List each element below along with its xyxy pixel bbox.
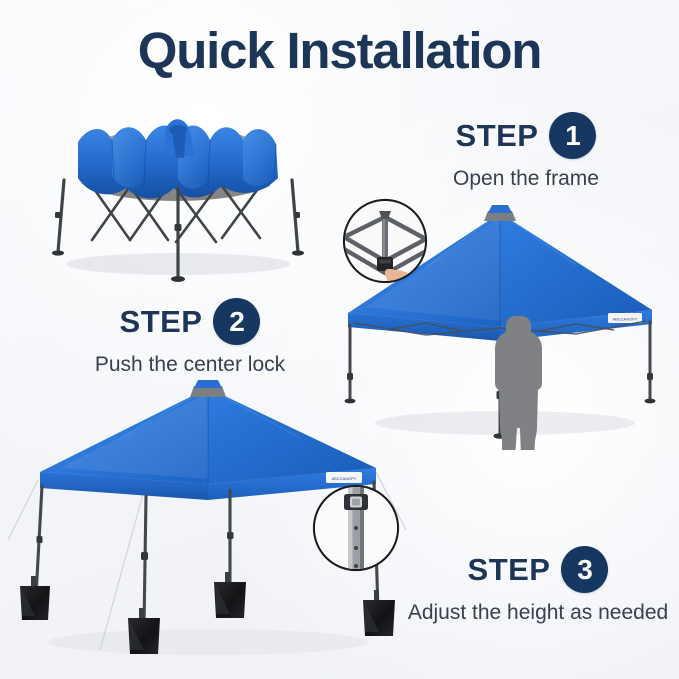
step-1: STEP 1 Open the frame — [396, 112, 656, 192]
step-3-badge: 3 — [561, 546, 608, 593]
brand-tag: ABCCANOPY — [326, 472, 362, 483]
step-2-badge: 2 — [213, 298, 260, 345]
brand-tag: ABCCANOPY — [608, 313, 642, 323]
page-title: Quick Installation — [0, 22, 679, 80]
step-1-heading: STEP 1 — [396, 112, 656, 159]
step-2-label: STEP — [120, 305, 203, 339]
step-2-description: Push the center lock — [60, 352, 320, 378]
step-2: STEP 2 Push the center lock — [60, 298, 320, 378]
step-1-description: Open the frame — [396, 166, 656, 192]
weight-bag — [128, 608, 160, 654]
step-3: STEP 3 Adjust the height as needed — [400, 546, 676, 626]
svg-text:ABCCANOPY: ABCCANOPY — [331, 476, 356, 481]
folded-canopy-illustration — [26, 82, 326, 292]
step-3-label: STEP — [468, 553, 551, 587]
step-3-heading: STEP 3 — [400, 546, 676, 593]
step-2-heading: STEP 2 — [60, 298, 320, 345]
step-1-label: STEP — [456, 119, 539, 153]
infographic-page: Quick Installation — [0, 0, 679, 679]
weighted-canopy-illustration: ABCCANOPY — [8, 380, 408, 670]
leg-height-closeup-inset — [314, 486, 398, 570]
step-1-badge: 1 — [549, 112, 596, 159]
weight-bag — [363, 590, 395, 636]
svg-text:ABCCANOPY: ABCCANOPY — [612, 316, 637, 321]
weight-bag — [214, 572, 246, 618]
weight-bag — [20, 576, 50, 620]
step-3-description: Adjust the height as needed — [400, 600, 676, 626]
